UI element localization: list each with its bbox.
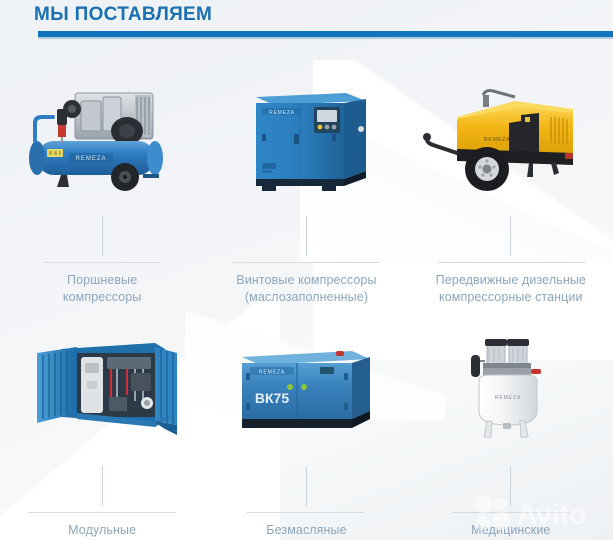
svg-text:REMEZA: REMEZA bbox=[270, 110, 296, 116]
product-card-medical-compressor[interactable]: REMEZA Медицинские компрессоры bbox=[409, 306, 613, 540]
page-header: МЫ ПОСТАВЛЯЕМ bbox=[0, 0, 613, 56]
connector-line bbox=[510, 466, 511, 506]
caption-divider bbox=[452, 512, 570, 513]
product-caption: Модульные компрессорные станции bbox=[24, 522, 180, 540]
product-card-modular-station[interactable]: Модульные компрессорные станции bbox=[0, 306, 204, 540]
page-title: МЫ ПОСТАВЛЯЕМ bbox=[34, 4, 212, 26]
mobile-diesel-compressor-icon: REMEZA bbox=[409, 64, 613, 214]
product-caption: Безмасляные компрессоры bbox=[260, 522, 352, 540]
connector-line bbox=[306, 466, 307, 506]
svg-text:REMEZA: REMEZA bbox=[76, 156, 107, 162]
modular-container-station-icon bbox=[0, 314, 204, 464]
product-grid: REMEZA bbox=[0, 56, 613, 540]
product-caption: Медицинские компрессоры bbox=[465, 522, 556, 540]
caption-divider bbox=[437, 262, 585, 263]
caption-divider bbox=[247, 512, 365, 513]
svg-text:REMEZA: REMEZA bbox=[484, 137, 511, 143]
product-card-screw-compressor[interactable]: REMEZA bbox=[204, 56, 408, 306]
product-caption: Передвижные дизельные компрессорные стан… bbox=[430, 272, 592, 306]
model-label: ВК75 bbox=[255, 390, 289, 406]
connector-line bbox=[510, 216, 511, 256]
product-card-oil-free-compressor[interactable]: REMEZA ВК75 bbox=[204, 306, 408, 540]
medical-compressor-icon: REMEZA bbox=[409, 314, 613, 464]
product-card-piston-compressor[interactable]: REMEZA bbox=[0, 56, 204, 306]
poster-root: МЫ ПОСТАВЛЯЕМ bbox=[0, 0, 613, 540]
caption-divider bbox=[232, 262, 380, 263]
piston-compressor-icon: REMEZA bbox=[0, 64, 204, 214]
oil-free-compressor-icon: REMEZA ВК75 bbox=[204, 314, 408, 464]
svg-text:REMEZA: REMEZA bbox=[259, 369, 285, 375]
caption-divider bbox=[43, 262, 161, 263]
connector-line bbox=[102, 216, 103, 256]
product-caption: Винтовые компрессоры (маслозаполненные) bbox=[230, 272, 382, 306]
product-card-mobile-diesel-station[interactable]: REMEZA bbox=[409, 56, 613, 306]
header-accent-bar-shadow bbox=[38, 37, 613, 39]
screw-compressor-icon: REMEZA bbox=[204, 64, 408, 214]
connector-line bbox=[102, 466, 103, 506]
caption-divider bbox=[28, 512, 176, 513]
product-caption: Поршневые компрессоры bbox=[57, 272, 147, 306]
connector-line bbox=[306, 216, 307, 256]
svg-text:REMEZA: REMEZA bbox=[495, 395, 521, 401]
